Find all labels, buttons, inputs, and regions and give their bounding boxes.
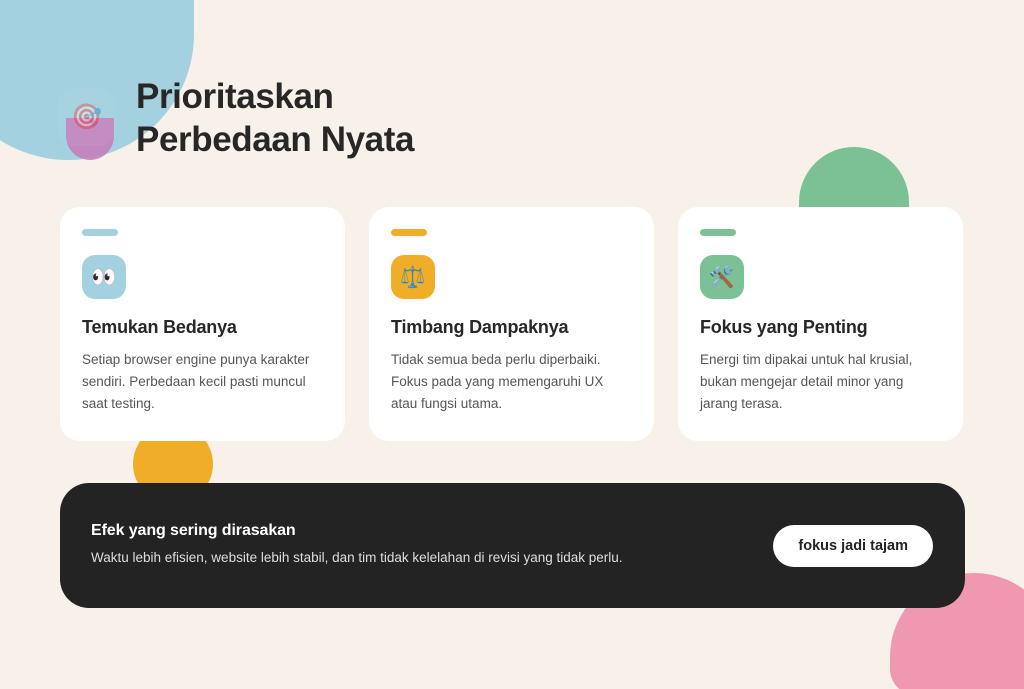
page-title: Prioritaskan Perbedaan Nyata	[136, 76, 414, 161]
summary-banner-text: Efek yang sering dirasakan Waktu lebih e…	[91, 522, 623, 569]
card-accent-bar	[82, 229, 118, 236]
page-canvas: 🎯 Prioritaskan Perbedaan Nyata 👀 Temukan…	[0, 0, 1024, 689]
feature-card[interactable]: ⚖️ Timbang Dampaknya Tidak semua beda pe…	[369, 207, 654, 441]
card-accent-bar	[700, 229, 736, 236]
summary-banner: Efek yang sering dirasakan Waktu lebih e…	[60, 483, 965, 608]
feature-card[interactable]: 🛠️ Fokus yang Penting Energi tim dipakai…	[678, 207, 963, 441]
target-icon: 🎯	[58, 88, 116, 146]
page-title-line-1: Prioritaskan	[136, 76, 414, 119]
card-accent-bar	[391, 229, 427, 236]
summary-banner-title: Efek yang sering dirasakan	[91, 522, 623, 540]
card-body: Energi tim dipakai untuk hal krusial, bu…	[700, 349, 941, 415]
balance-scale-icon: ⚖️	[391, 255, 435, 299]
card-title: Temukan Bedanya	[82, 317, 323, 338]
page-title-line-2: Perbedaan Nyata	[136, 119, 414, 162]
card-title: Fokus yang Penting	[700, 317, 941, 338]
purple-accent-decoration	[66, 118, 114, 160]
feature-card-list: 👀 Temukan Bedanya Setiap browser engine …	[60, 207, 964, 441]
card-title: Timbang Dampaknya	[391, 317, 632, 338]
hammer-and-wrench-icon: 🛠️	[700, 255, 744, 299]
card-body: Setiap browser engine punya karakter sen…	[82, 349, 323, 415]
card-body: Tidak semua beda perlu diperbaiki. Fokus…	[391, 349, 632, 415]
eyes-icon: 👀	[82, 255, 126, 299]
fokus-jadi-tajam-button[interactable]: fokus jadi tajam	[773, 525, 933, 567]
summary-banner-subtitle: Waktu lebih efisien, website lebih stabi…	[91, 548, 623, 569]
feature-card[interactable]: 👀 Temukan Bedanya Setiap browser engine …	[60, 207, 345, 441]
